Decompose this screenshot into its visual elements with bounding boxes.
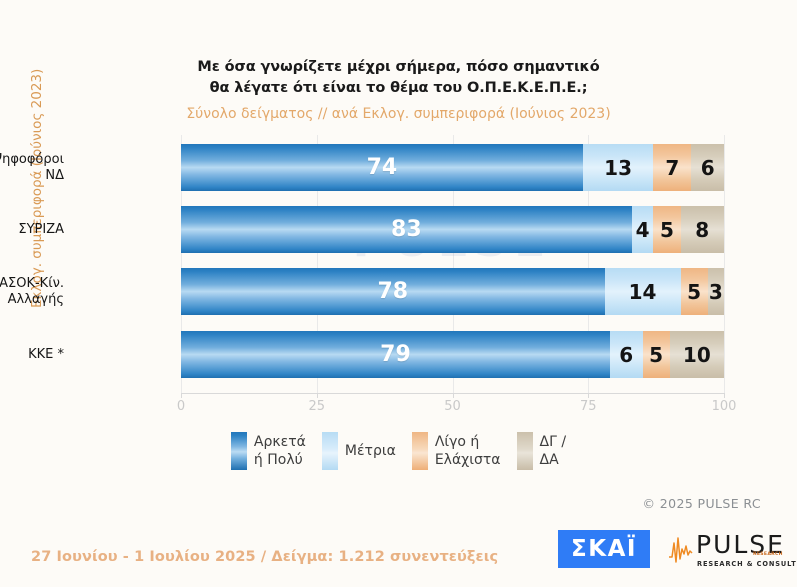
chart-title-block: Με όσα γνωρίζετε μέχρι σήμερα, πόσο σημα… [0, 57, 797, 124]
x-tick-mark [181, 393, 182, 398]
pulse-logo-tagline: RESEARCH & CONSULTING [697, 560, 797, 568]
bar-segment-dk[interactable]: 10 [670, 331, 724, 378]
bar-segment-value: 10 [683, 345, 711, 365]
legend-item-dk[interactable]: ΔΓ / ΔΑ [517, 432, 567, 470]
bar-segment-little[interactable]: 5 [643, 331, 670, 378]
x-tick-mark [453, 393, 454, 398]
pulse-logo-sub: RESEARCH [753, 552, 783, 557]
bar-row[interactable]: 781453 [181, 268, 724, 315]
legend-swatch-little [412, 432, 428, 470]
legend-label: Μέτρια [345, 442, 396, 460]
bar-segment-medium[interactable]: 13 [583, 144, 654, 191]
bar-row[interactable]: 741376 [181, 144, 724, 191]
legend-label: Αρκετά ή Πολύ [254, 433, 306, 469]
bar-segment-dk[interactable]: 3 [708, 268, 724, 315]
pulse-logo: PULSE RESEARCH RESEARCH & CONSULTING [668, 531, 790, 573]
legend-label: ΔΓ / ΔΑ [540, 433, 567, 469]
bar-row[interactable]: 796510 [181, 331, 724, 378]
x-tick-label: 25 [297, 399, 337, 414]
bar-segment-value: 8 [695, 220, 709, 240]
legend-swatch-medium [322, 432, 338, 470]
title-line-2: θα λέγατε ότι είναι το θέμα του Ο.Π.Ε.Κ.… [0, 78, 797, 99]
copyright-notice: © 2025 PULSE RC [642, 496, 761, 511]
category-label-line: ΚΚΕ * [0, 347, 64, 363]
legend-item-very[interactable]: Αρκετά ή Πολύ [231, 432, 306, 470]
bar-segment-medium[interactable]: 4 [632, 206, 654, 253]
category-label-line: ΠΑΣΟΚ-Κίν. [0, 276, 64, 292]
gridline [724, 135, 725, 393]
bar-row[interactable]: 83458 [181, 206, 724, 253]
category-label-line: Ψηφοφόροι [0, 152, 64, 168]
bar-segment-medium[interactable]: 14 [605, 268, 681, 315]
skai-logo: ΣΚΑΪ [558, 530, 650, 568]
title-line-1: Με όσα γνωρίζετε μέχρι σήμερα, πόσο σημα… [0, 57, 797, 78]
x-tick-mark [317, 393, 318, 398]
survey-dates-sample: 27 Ιουνίου - 1 Ιουλίου 2025 / Δείγμα: 1.… [31, 549, 498, 565]
legend-swatch-very [231, 432, 247, 470]
x-tick-label: 100 [704, 399, 744, 414]
bar-segment-little[interactable]: 7 [653, 144, 691, 191]
legend-label: Λίγο ή Ελάχιστα [435, 433, 501, 469]
bar-segment-value: 6 [701, 158, 715, 178]
bar-segment-little[interactable]: 5 [681, 268, 708, 315]
stacked-bar-chart: PULSE 74137683458781453796510 [181, 135, 724, 393]
bar-segment-medium[interactable]: 6 [610, 331, 643, 378]
category-label: ΠΑΣΟΚ-Κίν.Αλλαγής [0, 276, 64, 308]
bar-segment-value: 3 [709, 282, 723, 302]
pulse-wave-icon [668, 535, 698, 565]
bar-segment-value: 14 [629, 282, 657, 302]
category-label-line: ΝΔ [0, 168, 64, 184]
x-tick-label: 0 [161, 399, 201, 414]
bar-segment-little[interactable]: 5 [653, 206, 680, 253]
x-tick-mark [588, 393, 589, 398]
category-label-line: ΣΥΡΙΖΑ [0, 222, 64, 238]
bar-segment-value: 6 [619, 345, 633, 365]
legend-item-little[interactable]: Λίγο ή Ελάχιστα [412, 432, 501, 470]
bar-segment-value: 5 [687, 282, 701, 302]
bar-segment-dk[interactable]: 8 [681, 206, 724, 253]
category-label: ΨηφοφόροιΝΔ [0, 152, 64, 184]
bar-segment-very[interactable]: 83 [181, 206, 632, 253]
bar-segment-dk[interactable]: 6 [691, 144, 724, 191]
bar-segment-value: 83 [391, 219, 422, 241]
category-label: ΚΚΕ * [0, 347, 64, 363]
bar-segment-value: 79 [380, 344, 411, 366]
legend-swatch-dk [517, 432, 533, 470]
bar-segment-value: 5 [649, 345, 663, 365]
bar-segment-value: 5 [660, 220, 674, 240]
bar-segment-value: 74 [367, 157, 398, 179]
legend-item-medium[interactable]: Μέτρια [322, 432, 396, 470]
bar-segment-value: 4 [636, 220, 650, 240]
chart-subtitle: Σύνολο δείγματος // ανά Εκλογ. συμπεριφο… [0, 105, 797, 124]
bar-segment-value: 78 [377, 281, 408, 303]
bar-segment-value: 13 [604, 158, 632, 178]
bar-segment-very[interactable]: 78 [181, 268, 605, 315]
chart-legend: Αρκετά ή ΠολύΜέτριαΛίγο ή ΕλάχισταΔΓ / Δ… [0, 432, 797, 470]
category-label: ΣΥΡΙΖΑ [0, 222, 64, 238]
x-tick-label: 75 [568, 399, 608, 414]
bar-segment-very[interactable]: 74 [181, 144, 583, 191]
x-tick-label: 50 [433, 399, 473, 414]
x-tick-mark [724, 393, 725, 398]
bar-segment-value: 7 [665, 158, 679, 178]
bar-segment-very[interactable]: 79 [181, 331, 610, 378]
category-label-line: Αλλαγής [0, 292, 64, 308]
skai-logo-text: ΣΚΑΪ [571, 538, 637, 561]
